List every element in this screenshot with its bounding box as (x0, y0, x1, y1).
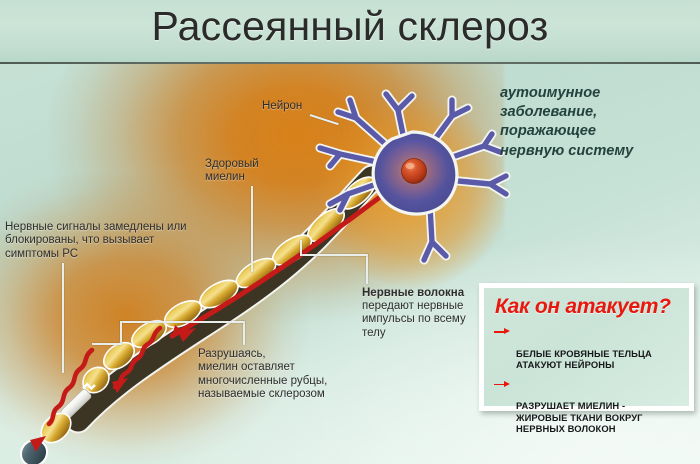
attack-bullet-1-text: БЕЛЫЕ КРОВЯНЫЕ ТЕЛЬЦА АТАКУЮТ НЕЙРОНЫ (516, 348, 652, 370)
leader-line-nerve-fibers-h (300, 254, 368, 256)
axon-terminal (16, 408, 77, 464)
header-band: Рассеянный склероз (0, 0, 700, 64)
attack-box-bullets: БЕЛЫЕ КРОВЯНЫЕ ТЕЛЬЦА АТАКУЮТ НЕЙРОНЫ РА… (494, 325, 685, 442)
leader-line-scars-v (243, 321, 245, 345)
infographic-root: Рассеянный склероз аутоимунное заболеван… (0, 0, 700, 464)
leader-line-nerve-fibers-tip (300, 240, 302, 256)
leader-line-scars-tip2 (92, 343, 122, 345)
label-nerve-fibers-title: Нервные волокна (362, 287, 482, 300)
neuron-cell-body (320, 94, 506, 260)
attack-bullet-1: БЕЛЫЕ КРОВЯНЫЕ ТЕЛЬЦА АТАКУЮТ НЕЙРОНЫ (494, 325, 685, 371)
attack-info-box: Как он атакует? БЕЛЫЕ КРОВЯНЫЕ ТЕЛЬЦА АТ… (479, 283, 694, 411)
attack-box-title: Как он атакует? (495, 295, 671, 319)
label-nerve-fibers-body: передают нервные импульсы по всему телу (362, 300, 487, 340)
leader-line-scars-tip (120, 321, 122, 343)
label-neuron: Нейрон (262, 100, 302, 113)
attack-bullet-2: РАЗРУШАЕТ МИЕЛИН - ЖИРОВЫЕ ТКАНИ ВОКРУГ … (494, 378, 685, 435)
attack-bullet-2-text: РАЗРУШАЕТ МИЕЛИН - ЖИРОВЫЕ ТКАНИ ВОКРУГ … (516, 400, 643, 434)
tagline-text: аутоимунное заболевание, поражающее нерв… (500, 84, 695, 161)
page-title: Рассеянный склероз (0, 3, 700, 50)
label-signals-blocked: Нервные сигналы замедлены или блокирован… (5, 221, 240, 261)
label-healthy-myelin: Здоровый миелин (205, 158, 285, 185)
arrow-right-icon (494, 381, 511, 388)
leader-line-scars-h (120, 321, 245, 323)
leader-line-healthy-myelin (251, 186, 253, 272)
arrow-right-icon (494, 328, 511, 335)
label-myelin-scars: Разрушаясь, миелин оставляет многочислен… (198, 348, 388, 402)
leader-line-signals-blocked (62, 263, 64, 373)
leader-line-nerve-fibers-v (366, 254, 368, 284)
